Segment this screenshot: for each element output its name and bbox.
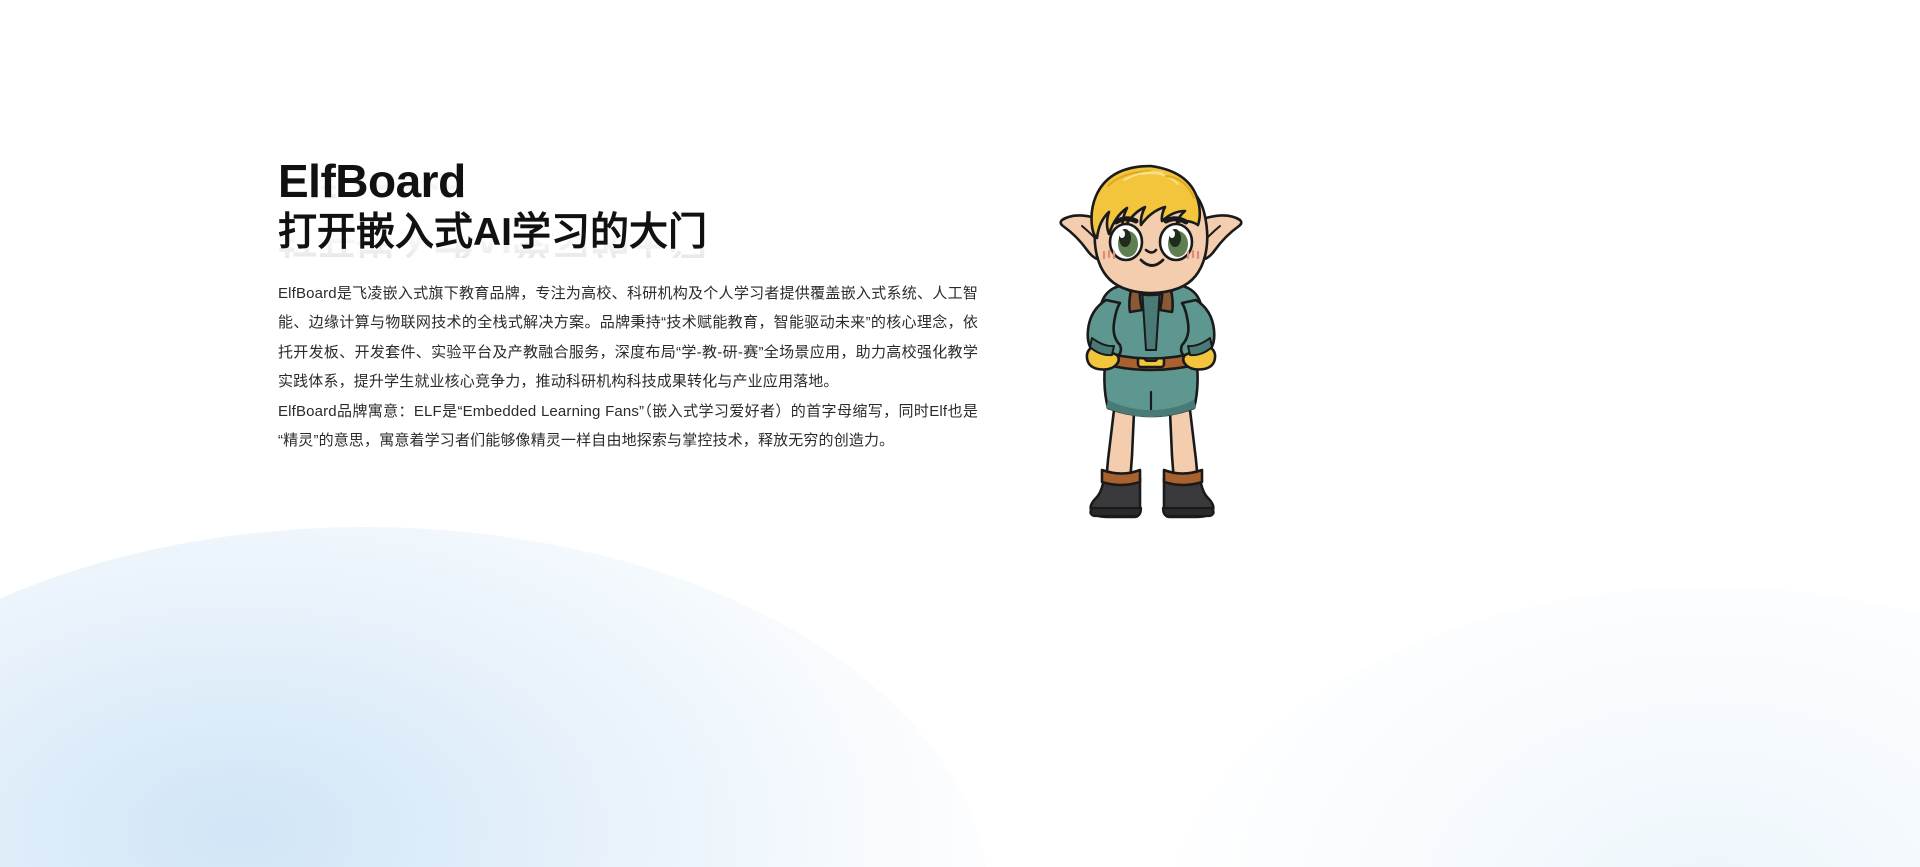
page-title-line-2: 打开嵌入式AI学习的大门	[278, 213, 978, 253]
brand-description-paragraph: ElfBoard是飞凌嵌入式旗下教育品牌，专注为高校、科研机构及个人学习者提供覆…	[278, 279, 978, 397]
elf-mascot-icon	[1046, 160, 1256, 540]
hero-text-column: ElfBoard ElfBoard 打开嵌入式AI学习的大门 打开嵌入式AI学习…	[278, 158, 978, 456]
hero-description: ElfBoard是飞凌嵌入式旗下教育品牌，专注为高校、科研机构及个人学习者提供覆…	[278, 279, 978, 456]
background-glow-bottom-right	[1160, 587, 1920, 867]
background-glow-bottom-left	[0, 527, 990, 867]
page-title-line-1: ElfBoard	[278, 158, 978, 205]
headline-group: ElfBoard ElfBoard 打开嵌入式AI学习的大门 打开嵌入式AI学习…	[278, 158, 978, 253]
hero-section: ElfBoard ElfBoard 打开嵌入式AI学习的大门 打开嵌入式AI学习…	[0, 0, 1920, 867]
brand-meaning-paragraph: ElfBoard品牌寓意：ELF是“Embedded Learning Fans…	[278, 397, 978, 456]
